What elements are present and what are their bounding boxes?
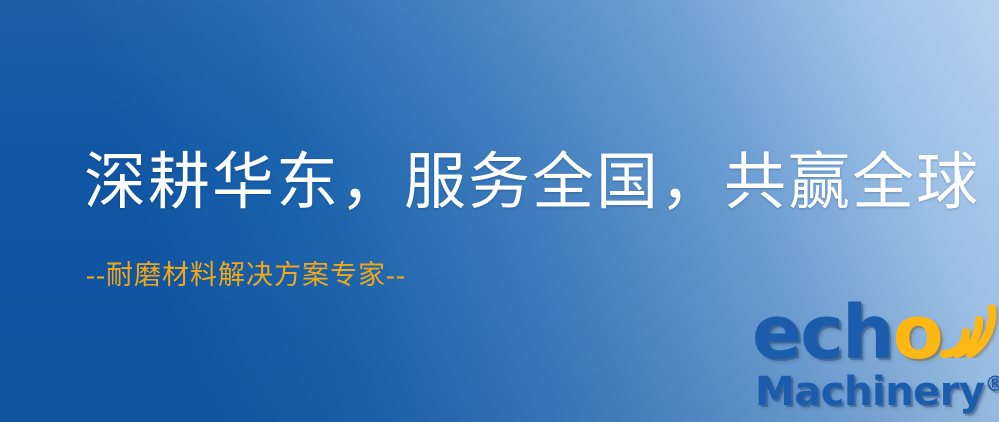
registered-trademark-icon: ® [985,372,999,396]
hero-banner: 深耕华东，服务全国，共赢全球 --耐磨材料解决方案专家-- echo Machi… [0,0,999,422]
logo-subtext-label: Machinery [755,369,985,415]
banner-subheadline: --耐磨材料解决方案专家-- [86,262,406,289]
logo-wordmark: echo [752,296,942,370]
logo-subtext: Machinery® [755,364,999,412]
signal-wave-icon [926,294,999,358]
banner-headline: 深耕华东，服务全国，共赢全球 [84,152,980,214]
company-logo[interactable]: echo Machinery® [752,296,996,418]
